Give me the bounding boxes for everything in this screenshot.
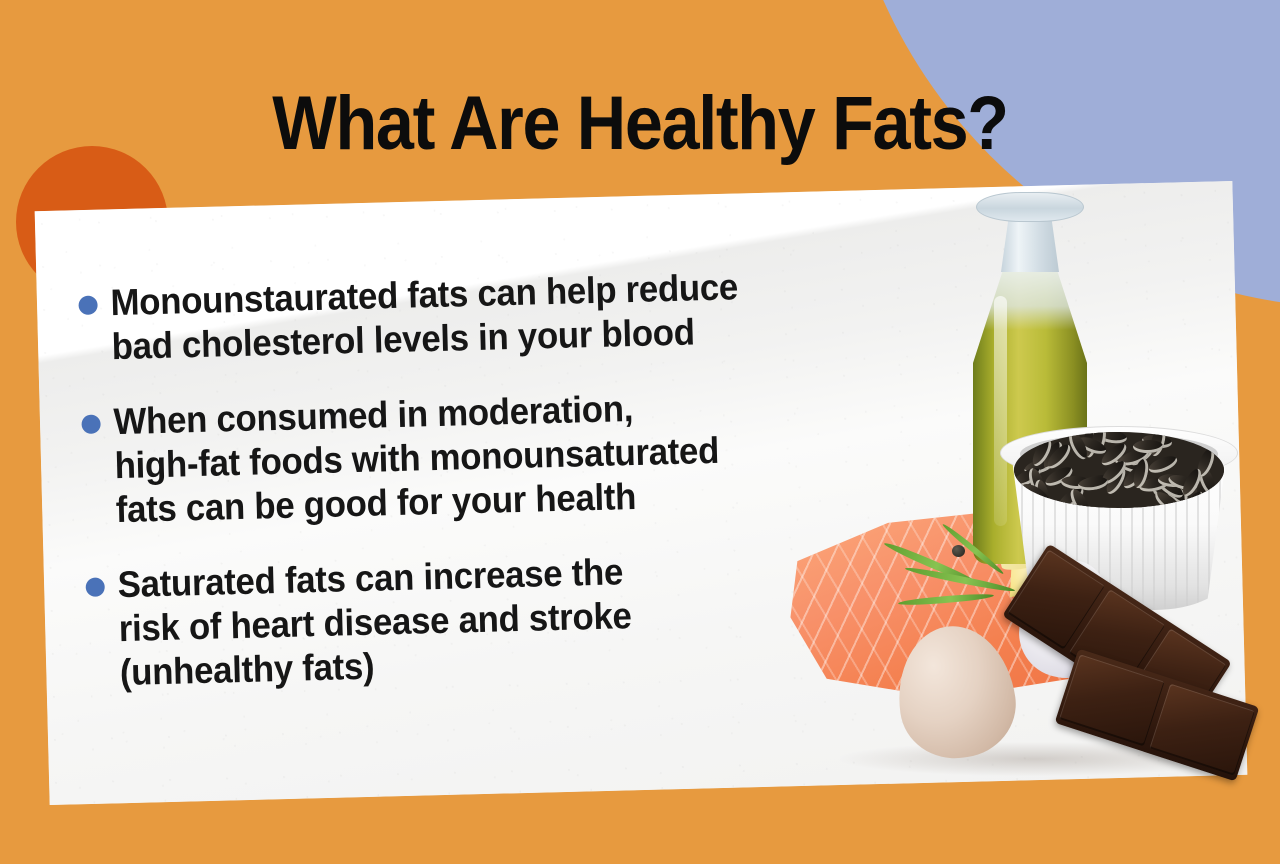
sunflower-seed <box>1147 452 1180 475</box>
page-title: What Are Healthy Fats? <box>64 80 1216 167</box>
peppercorn <box>952 545 965 557</box>
bullet-dot-icon <box>81 415 100 434</box>
infographic-slide: What Are Healthy Fats? Monounstaurated f… <box>0 0 1280 864</box>
oil-bottle-neck <box>1001 214 1059 272</box>
list-item-label: When consumed in moderation, high-fat fo… <box>113 385 721 532</box>
oil-bottle-rim <box>976 192 1084 222</box>
list-item-label: Monounstaurated fats can help reduce bad… <box>110 265 740 369</box>
list-item: When consumed in moderation, high-fat fo… <box>81 379 964 533</box>
bullet-dot-icon <box>85 578 104 597</box>
list-item-label: Saturated fats can increase the risk of … <box>117 550 633 695</box>
sunflower-seeds-top <box>1014 432 1224 508</box>
bullet-dot-icon <box>78 296 97 315</box>
